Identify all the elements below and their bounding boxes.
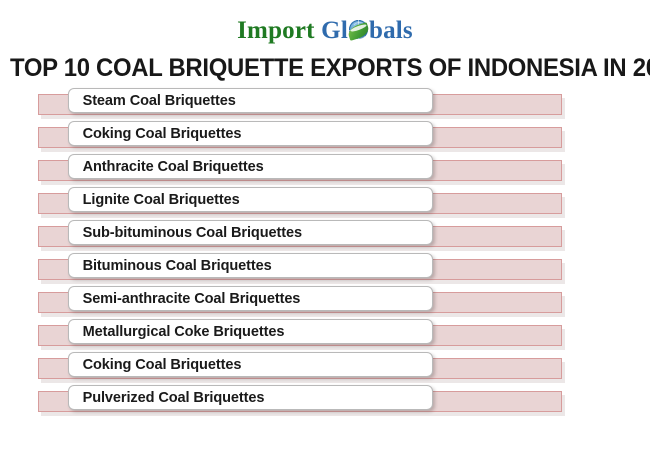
brand-logo: Import Gl bals <box>0 16 650 46</box>
brand-name-import: Import <box>237 17 315 44</box>
bar-label-box[interactable]: Pulverized Coal Briquettes <box>68 385 433 410</box>
chart-page: Import Gl bals TOP 10 COAL BRIQUETTE EXP… <box>0 0 650 450</box>
bar-label-box[interactable]: Sub-bituminous Coal Briquettes <box>68 220 433 245</box>
bar-row: Semi-anthracite Coal Briquettes <box>0 286 650 319</box>
bar-row: Coking Coal Briquettes <box>0 352 650 385</box>
bar-label-text: Lignite Coal Briquettes <box>69 191 240 208</box>
bar-label-box[interactable]: Semi-anthracite Coal Briquettes <box>68 286 433 311</box>
bar-label-text: Coking Coal Briquettes <box>69 125 241 142</box>
bar-row: Lignite Coal Briquettes <box>0 187 650 220</box>
bar-row: Sub-bituminous Coal Briquettes <box>0 220 650 253</box>
bar-row: Bituminous Coal Briquettes <box>0 253 650 286</box>
bar-label-text: Coking Coal Briquettes <box>69 356 241 373</box>
bar-label-box[interactable]: Metallurgical Coke Briquettes <box>68 319 433 344</box>
bar-label-text: Metallurgical Coke Briquettes <box>69 323 284 340</box>
bar-row: Metallurgical Coke Briquettes <box>0 319 650 352</box>
bar-label-box[interactable]: Lignite Coal Briquettes <box>68 187 433 212</box>
bar-row: Steam Coal Briquettes <box>0 88 650 121</box>
brand-name-bals: bals <box>369 17 413 44</box>
bar-label-box[interactable]: Coking Coal Briquettes <box>68 352 433 377</box>
bar-row: Anthracite Coal Briquettes <box>0 154 650 187</box>
bar-label-box[interactable]: Bituminous Coal Briquettes <box>68 253 433 278</box>
bar-label-text: Semi-anthracite Coal Briquettes <box>69 290 300 307</box>
page-title: TOP 10 COAL BRIQUETTE EXPORTS OF INDONES… <box>10 54 614 82</box>
brand-name-gl: Gl <box>321 17 348 44</box>
bar-label-text: Steam Coal Briquettes <box>69 92 236 109</box>
bar-label-box[interactable]: Steam Coal Briquettes <box>68 88 433 113</box>
globe-leaf-icon <box>348 20 369 41</box>
bar-chart-rows: Steam Coal BriquettesCoking Coal Briquet… <box>0 88 650 418</box>
bar-label-text: Anthracite Coal Briquettes <box>69 158 264 175</box>
bar-label-box[interactable]: Anthracite Coal Briquettes <box>68 154 433 179</box>
bar-label-box[interactable]: Coking Coal Briquettes <box>68 121 433 146</box>
bar-row: Coking Coal Briquettes <box>0 121 650 154</box>
bar-row: Pulverized Coal Briquettes <box>0 385 650 418</box>
bar-label-text: Bituminous Coal Briquettes <box>69 257 272 274</box>
bar-label-text: Pulverized Coal Briquettes <box>69 389 264 406</box>
bar-label-text: Sub-bituminous Coal Briquettes <box>69 224 302 241</box>
